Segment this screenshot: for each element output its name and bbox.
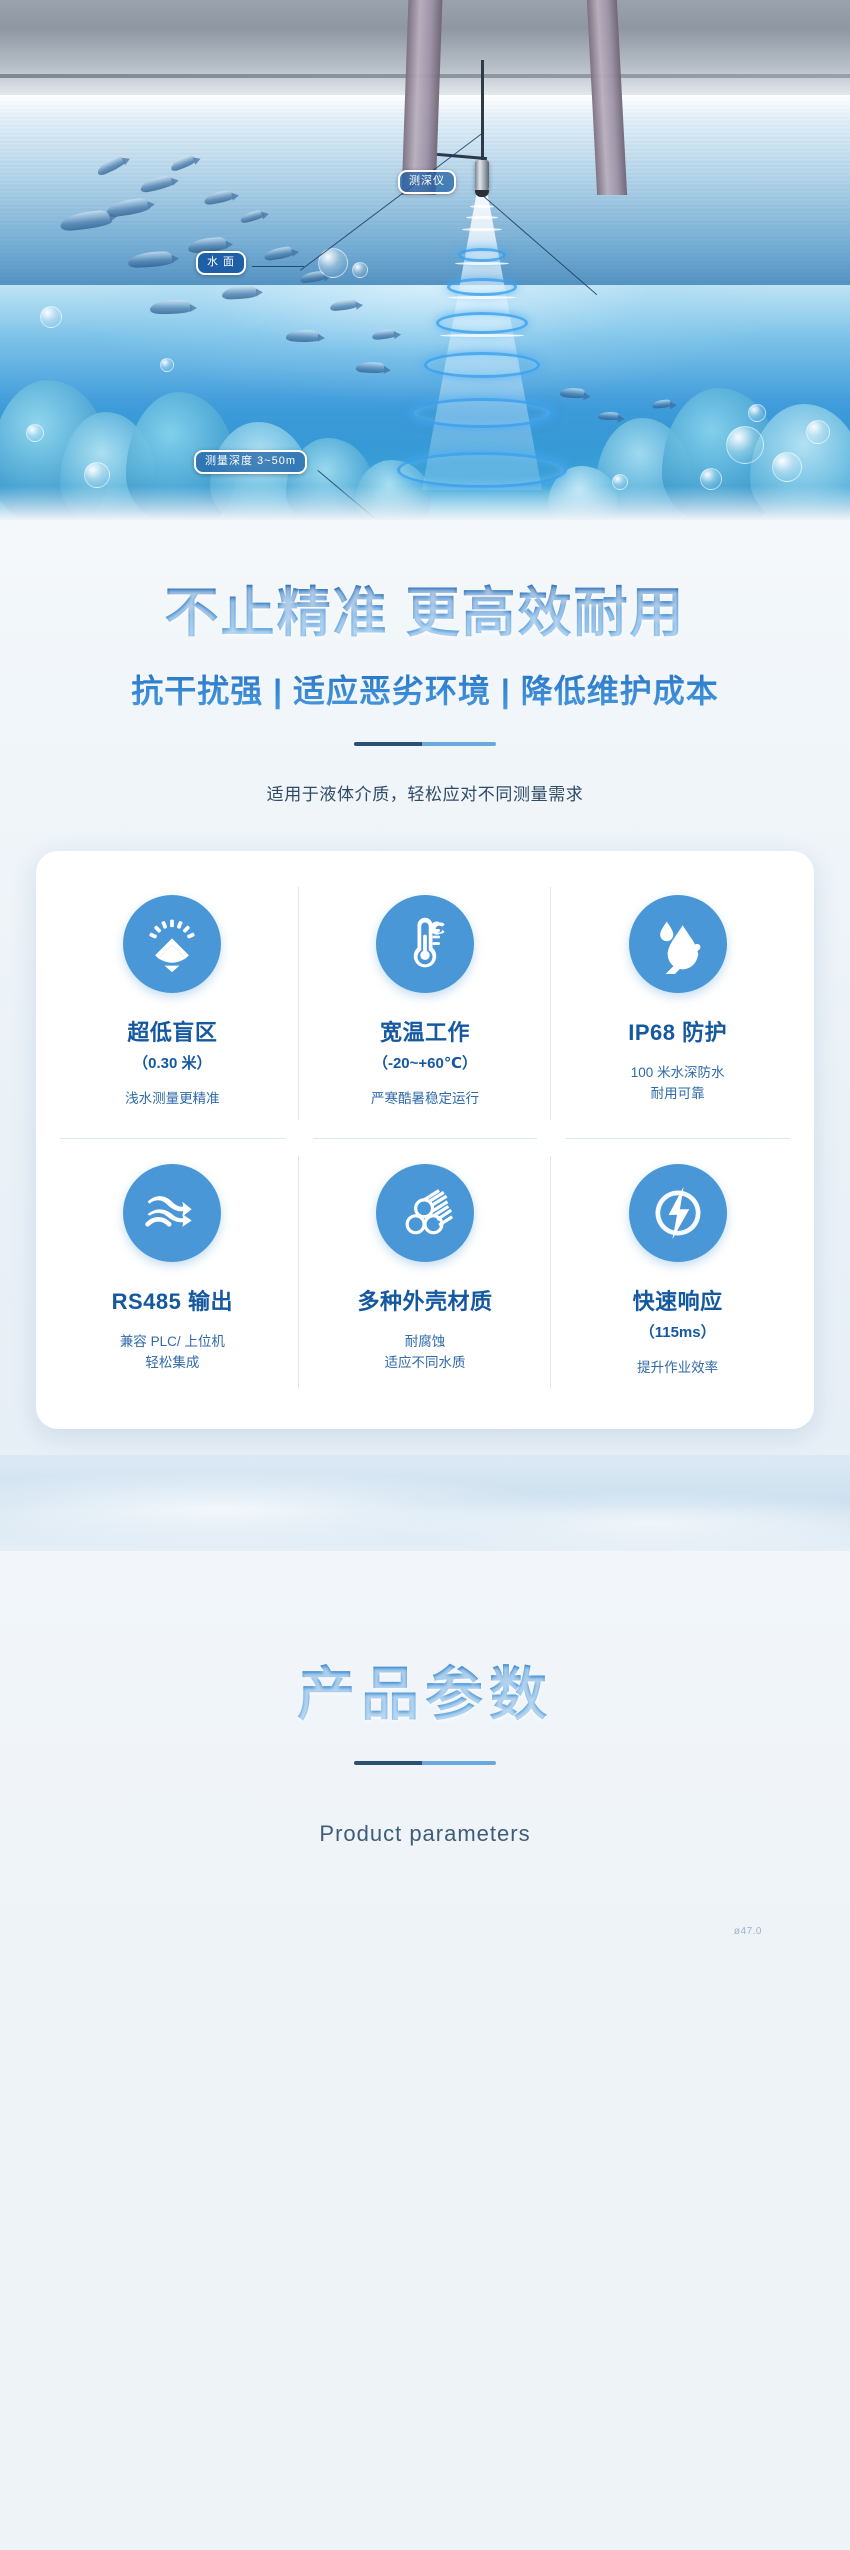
label-measuring-range: 测量深度 3~50m	[194, 450, 307, 474]
label-water-surface: 水 面	[196, 251, 246, 275]
depth-sounder-device	[475, 160, 489, 192]
sonar-ring	[436, 312, 528, 334]
feature-title: 多种外壳材质	[309, 1284, 542, 1316]
sonar-wave	[462, 228, 502, 231]
feature-subtitle: （-20~+60℃）	[309, 1052, 542, 1073]
params-divider	[354, 1761, 496, 1765]
feature-description: 提升作业效率	[561, 1358, 794, 1379]
sonar-wave	[470, 205, 494, 208]
feature-cards-grid: 超低盲区 （0.30 米） 浅水测量更精准	[46, 869, 804, 1407]
divider-light-segment	[422, 1761, 496, 1765]
feature-subtitle: （0.30 米）	[56, 1052, 289, 1073]
params-heading: 产品参数	[0, 1647, 850, 1731]
sonar-wave	[448, 296, 516, 299]
fish	[356, 361, 387, 374]
sensor-mount-rod	[481, 60, 484, 160]
material-pipes-icon	[376, 1164, 474, 1262]
bubble	[748, 404, 766, 422]
hero-underwater-illustration: 水 面 测深仪 测量深度 3~50m	[0, 0, 850, 520]
sonar-ring	[458, 248, 506, 262]
dimension-watermark: ø47.0	[734, 1926, 762, 1937]
page-subtitle: 抗干扰强 | 适应恶劣环境 | 降低维护成本	[0, 666, 850, 712]
fish	[598, 411, 621, 421]
feature-card-rs485-output[interactable]: RS485 输出 兼容 PLC/ 上位机 轻松集成	[46, 1138, 299, 1407]
bubble	[40, 306, 62, 328]
section-divider	[354, 742, 496, 746]
sonar-ring	[424, 352, 540, 378]
label-depth-sounder: 测深仪	[398, 170, 456, 194]
product-parameters-section: 产品参数 Product parameters ø47.0	[0, 1551, 850, 1941]
feature-description: 严寒酷暑稳定运行	[309, 1089, 542, 1110]
leader-line-water-surface	[252, 266, 304, 267]
divider-dark-segment	[354, 742, 422, 746]
feature-cards-panel: 超低盲区 （0.30 米） 浅水测量更精准	[36, 851, 814, 1429]
bubble	[726, 426, 764, 464]
sonar-ring	[447, 278, 517, 296]
feature-card-housing-materials[interactable]: 多种外壳材质 耐腐蚀 适应不同水质	[299, 1138, 552, 1407]
decorative-water-band	[0, 1455, 850, 1551]
bubble	[806, 420, 830, 444]
divider-light-segment	[422, 742, 496, 746]
product-detail-page: 水 面 测深仪 测量深度 3~50m 不止精准 更高效耐用 抗干扰强 | 适应恶…	[0, 0, 850, 2550]
fish	[286, 329, 321, 343]
sonar-wave	[455, 262, 509, 265]
bubble	[352, 262, 368, 278]
feature-card-fast-response[interactable]: 快速响应 （115ms） 提升作业效率	[551, 1138, 804, 1407]
bubble	[772, 452, 802, 482]
feature-title: 超低盲区	[56, 1015, 289, 1047]
feature-card-ip68-protection[interactable]: IP68 防护 100 米水深防水 耐用可靠	[551, 869, 804, 1138]
headline-section: 不止精准 更高效耐用 抗干扰强 | 适应恶劣环境 | 降低维护成本 适用于液体介…	[0, 520, 850, 1551]
bubble	[84, 462, 110, 488]
feature-subtitle: （115ms）	[561, 1321, 794, 1342]
page-title: 不止精准 更高效耐用	[0, 582, 850, 644]
hero-bottom-fade	[0, 486, 850, 520]
signal-flow-arrows-icon	[123, 1164, 221, 1262]
feature-title: IP68 防护	[561, 1015, 794, 1047]
sonar-ring	[397, 452, 567, 488]
feature-title: RS485 输出	[56, 1284, 289, 1316]
thermometer-celsius-icon	[376, 895, 474, 993]
sonar-wave	[466, 216, 498, 219]
feature-card-low-blind-zone[interactable]: 超低盲区 （0.30 米） 浅水测量更精准	[46, 869, 299, 1138]
feature-description: 100 米水深防水 耐用可靠	[561, 1063, 794, 1105]
feature-title: 快速响应	[561, 1284, 794, 1316]
gauge-blind-zone-icon	[123, 895, 221, 993]
feature-description: 耐腐蚀 适应不同水质	[309, 1332, 542, 1374]
fish	[150, 300, 192, 314]
waterproof-droplet-icon	[629, 895, 727, 993]
feature-description: 浅水测量更精准	[56, 1089, 289, 1110]
page-lead-text: 适用于液体介质，轻松应对不同测量需求	[0, 780, 850, 805]
feature-card-wide-temperature[interactable]: 宽温工作 （-20~+60℃） 严寒酷暑稳定运行	[299, 869, 552, 1138]
feature-title: 宽温工作	[309, 1015, 542, 1047]
lightning-speed-icon	[629, 1164, 727, 1262]
bubble	[160, 358, 174, 372]
divider-dark-segment	[354, 1761, 422, 1765]
sonar-wave	[440, 334, 524, 337]
sonar-ring	[411, 398, 553, 428]
feature-description: 兼容 PLC/ 上位机 轻松集成	[56, 1332, 289, 1374]
params-heading-en: Product parameters	[0, 1821, 850, 1847]
bubble	[26, 424, 44, 442]
